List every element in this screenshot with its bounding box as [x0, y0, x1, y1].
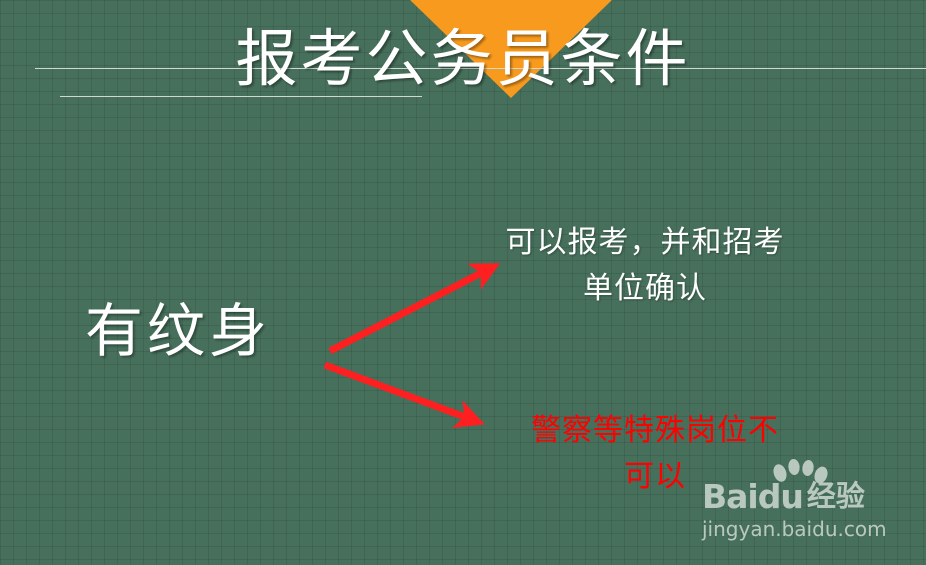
baidu-jingyan-watermark: Baidu 经验 jingyan.baidu.com — [702, 473, 916, 542]
callout-allowed-line-2: 单位确认 — [460, 266, 830, 312]
callout-restricted-line-1: 警察等特殊岗位不 — [470, 408, 840, 454]
arrow-to-restricted — [325, 365, 473, 420]
page-title: 报考公务员条件 — [0, 22, 926, 98]
watermark-url: jingyan.baidu.com — [702, 516, 916, 542]
presentation-slide: 报考公务员条件 有纹身 可以报考，并和招考 单位确认 警察等特殊岗位不 可以 B… — [0, 0, 926, 565]
callout-allowed: 可以报考，并和招考 单位确认 — [460, 220, 830, 312]
callout-allowed-line-1: 可以报考，并和招考 — [460, 220, 830, 266]
baidu-paw-logo — [770, 459, 830, 491]
subject-label: 有纹身 — [85, 297, 271, 367]
watermark-wordmark-head: Bai — [702, 477, 758, 516]
